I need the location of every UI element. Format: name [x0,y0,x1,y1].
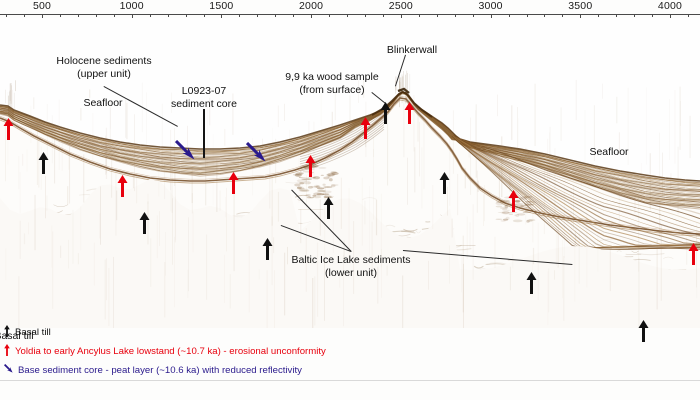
annotation-seafloor-right: Seafloor [589,146,628,159]
axis-tick-minor [383,14,384,17]
black-up-arrow [323,197,334,219]
black-up-arrow [380,102,391,124]
axis-tick-minor [437,14,438,17]
annotation-line-2: (lower unit) [291,267,410,280]
axis-tick-minor [96,14,97,17]
axis-tick-minor [329,14,330,17]
axis-tick-minor [78,14,79,17]
axis-line [0,14,700,15]
red-up-arrow [228,172,239,194]
axis-tick-minor [347,14,348,17]
legend-item-label: Base sediment core - peat layer (~10.6 k… [18,365,302,376]
axis-tick-minor [6,14,7,17]
legend-item-label: Yoldia to early Ancylus Lake lowstand (~… [15,346,326,357]
black-up-arrow [262,238,273,260]
annotation-line-1: L0923-07 [171,85,237,98]
legend-item-yoldia-ancylus-unconformity: Yoldia to early Ancylus Lake lowstand (~… [4,343,326,359]
annotation-sediment-core: L0923-07sediment core [171,85,237,110]
axis-tick-minor [204,14,205,17]
annotation-wood-sample: 9,9 ka wood sample(from surface) [285,71,378,96]
axis-tick-minor [455,14,456,17]
axis-tick-minor [293,14,294,17]
axis-tick-label: 500 [33,0,51,12]
legend-arrow-down-right-icon [4,364,13,376]
axis-tick-minor [275,14,276,17]
red-up-arrow [117,175,128,197]
axis-tick-minor [150,14,151,17]
blue-down-right-arrow [175,140,195,160]
axis-tick-minor [473,14,474,17]
annotation-line-1: 9,9 ka wood sample [285,71,378,84]
blue-down-right-arrow [246,142,266,162]
axis-tick-minor [186,14,187,17]
annotation-seafloor-left: Seafloor [83,97,122,110]
legend-item-label: Basal till [15,327,51,338]
axis-tick-minor [562,14,563,17]
axis-tick-minor [419,14,420,17]
legend: Basal tillYoldia to early Ancylus Lake l… [0,322,700,384]
red-up-arrow [508,190,519,212]
annotation-line-1: Seafloor [589,146,628,159]
axis-tick-minor [257,14,258,17]
red-up-arrow [688,243,699,265]
axis-tick-minor [688,14,689,17]
axis-tick-minor [114,14,115,17]
legend-arrow-up-icon [4,325,10,340]
annotation-line-2: (upper unit) [56,68,151,81]
sediment-core-marker [203,109,205,158]
red-up-arrow [404,102,415,124]
axis-tick-label: 3500 [568,0,592,12]
annotation-blinkerwall: Blinkerwall [387,44,437,57]
legend-item-base-sediment-core-peat: Base sediment core - peat layer (~10.6 k… [4,362,302,378]
axis-tick-minor [239,14,240,17]
axis-tick-label: 3000 [479,0,503,12]
axis-tick-minor [24,14,25,17]
axis-tick-label: 1500 [209,0,233,12]
annotation-line-1: Holocene sediments [56,55,151,68]
red-up-arrow [305,155,316,177]
legend-arrow-up-icon [4,344,10,359]
legend-item-basal-till: Basal till [4,324,51,340]
black-up-arrow [526,272,537,294]
axis-tick-minor [527,14,528,17]
annotation-baltic-ice-lake-sediments: Baltic Ice Lake sediments(lower unit) [291,254,410,279]
axis-tick-minor [598,14,599,17]
distance-axis: 5001000150020002500300035004000 [0,0,700,18]
seismic-profile-figure: 5001000150020002500300035004000 Holocene… [0,0,700,400]
axis-tick-minor [544,14,545,17]
legend-divider [0,380,700,381]
axis-tick-minor [60,14,61,17]
black-up-arrow [139,212,150,234]
axis-tick-minor [168,14,169,17]
annotation-holocene-sediments: Holocene sediments(upper unit) [56,55,151,80]
axis-tick-label: 1000 [120,0,144,12]
axis-tick-minor [634,14,635,17]
black-up-arrow [439,172,450,194]
axis-tick-minor [509,14,510,17]
axis-tick-label: 4000 [658,0,682,12]
annotation-line-1: Blinkerwall [387,44,437,57]
annotation-line-2: (from surface) [285,84,378,97]
red-up-arrow [3,118,14,140]
black-up-arrow [38,152,49,174]
axis-tick-minor [652,14,653,17]
axis-tick-minor [365,14,366,17]
axis-tick-label: 2500 [389,0,413,12]
axis-tick-label: 2000 [299,0,323,12]
red-up-arrow [360,117,371,139]
annotation-line-1: Baltic Ice Lake sediments [291,254,410,267]
axis-tick-minor [616,14,617,17]
annotation-line-1: Seafloor [83,97,122,110]
